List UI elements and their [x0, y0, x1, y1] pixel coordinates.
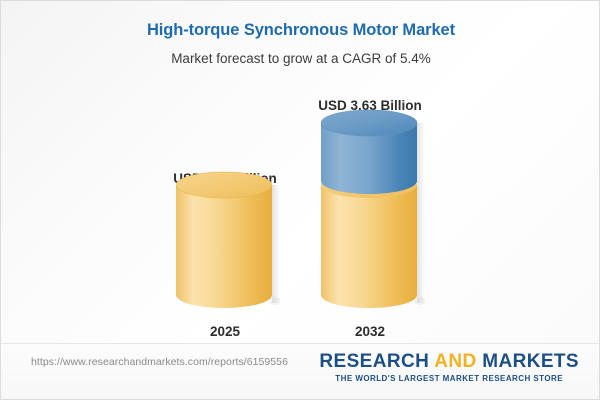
brand-name-and: AND — [434, 351, 476, 372]
brand-name-part2: MARKETS — [477, 351, 579, 372]
chart-plot-area: USD 2.51 Billion — [1, 1, 600, 346]
brand-name: RESEARCH AND MARKETS — [319, 352, 579, 371]
footer-bar: https://www.researchandmarkets.com/repor… — [1, 343, 600, 399]
brand-logo[interactable]: RESEARCH AND MARKETS THE WORLD'S LARGEST… — [319, 352, 579, 383]
source-url-link[interactable]: https://www.researchandmarkets.com/repor… — [31, 356, 288, 368]
bar-category-label-2032: 2032 — [270, 324, 470, 339]
cylinder-bar-2032 — [321, 109, 425, 309]
brand-tagline: THE WORLD'S LARGEST MARKET RESEARCH STOR… — [319, 375, 579, 383]
cylinder-bar-2025 — [176, 171, 280, 309]
brand-name-part1: RESEARCH — [319, 351, 434, 372]
infographic-canvas: High-torque Synchronous Motor Market Mar… — [0, 0, 600, 400]
